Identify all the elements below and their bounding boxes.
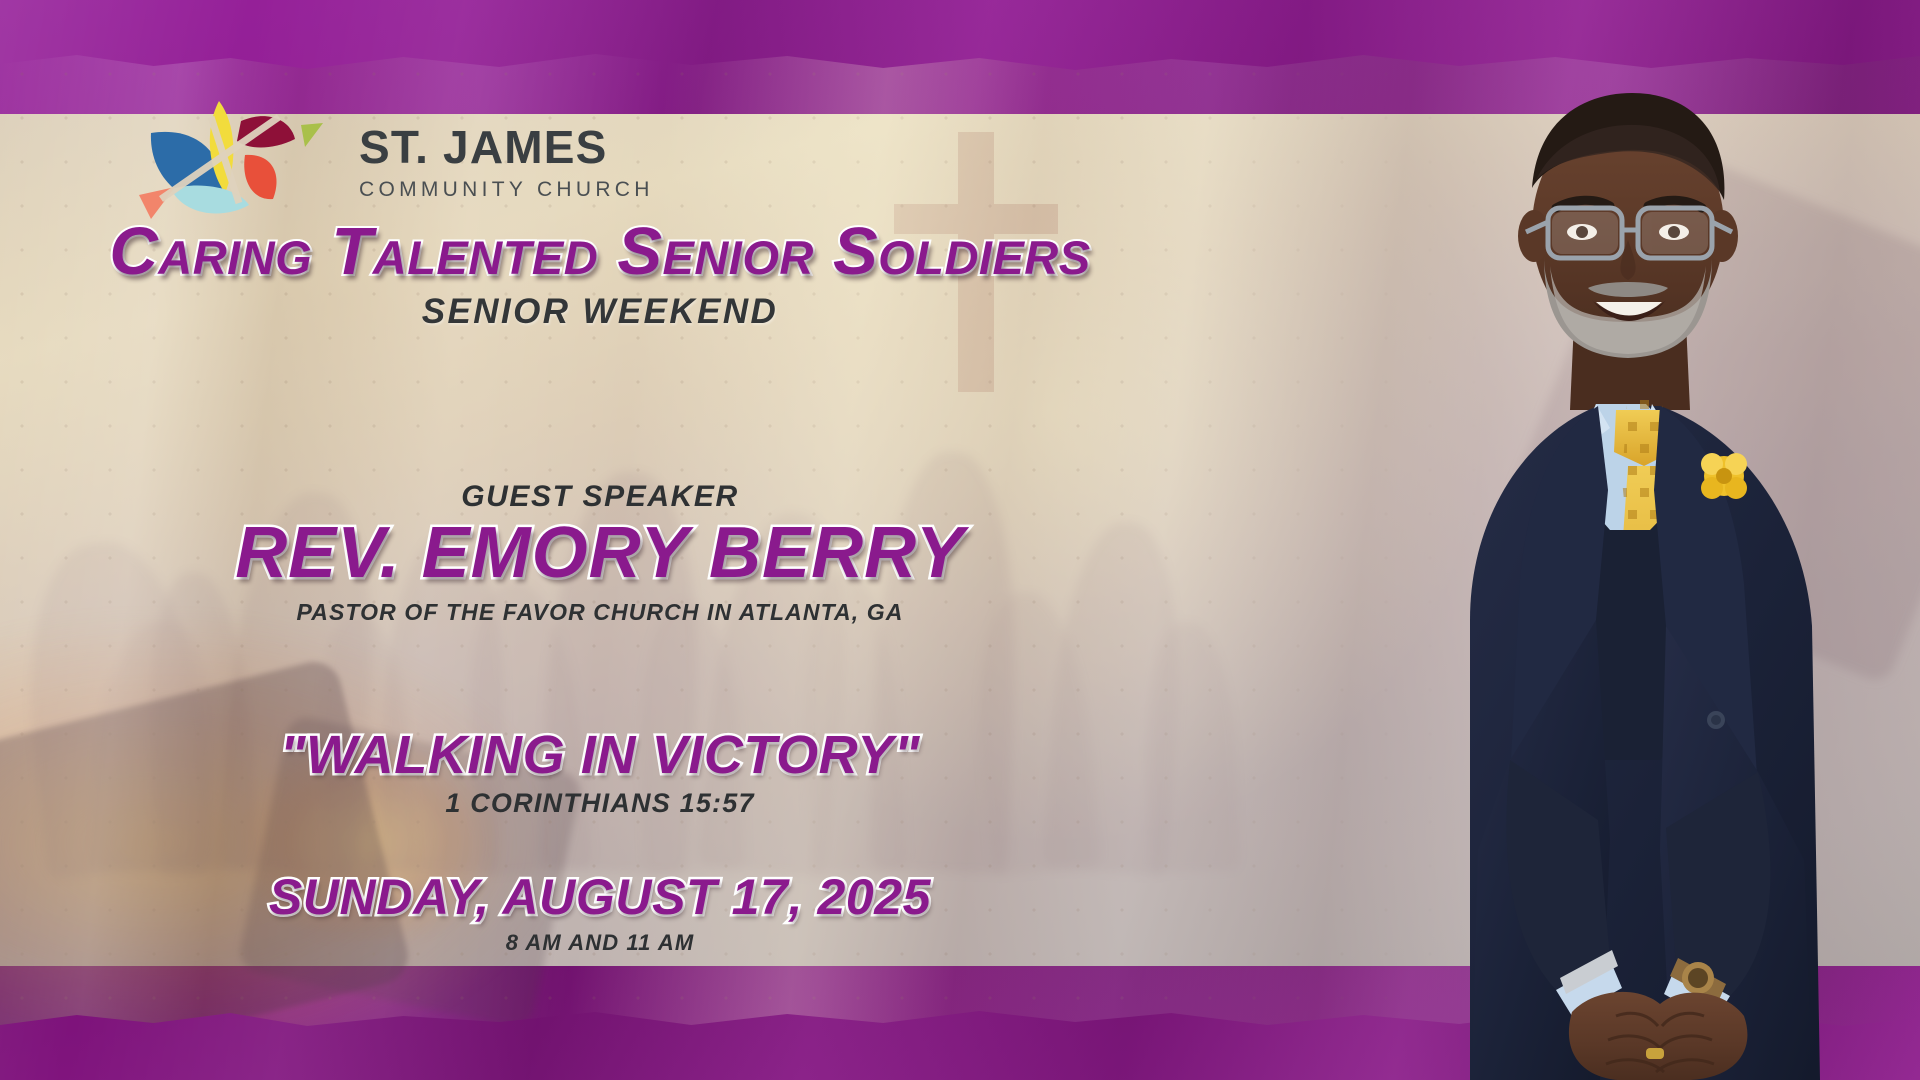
- date-block: SUNDAY, AUGUST 17, 2025 8 AM AND 11 AM: [0, 872, 1200, 954]
- sermon-scripture: 1 CORINTHIANS 15:57: [0, 790, 1200, 817]
- speaker-block: GUEST SPEAKER REV. EMORY BERRY PASTOR OF…: [0, 482, 1200, 624]
- church-logo: ST. JAMES COMMUNITY CHURCH: [133, 95, 654, 223]
- event-times: 8 AM AND 11 AM: [0, 932, 1200, 954]
- logo-name: ST. JAMES: [359, 124, 654, 170]
- event-subtitle: SENIOR WEEKEND: [0, 294, 1200, 329]
- logo-subtitle: COMMUNITY CHURCH: [359, 179, 654, 200]
- sermon-block: "WALKING IN VICTORY" 1 CORINTHIANS 15:57: [0, 728, 1200, 817]
- speaker-photo: [1360, 60, 1920, 1080]
- event-date: SUNDAY, AUGUST 17, 2025: [0, 872, 1200, 922]
- sermon-title: "WALKING IN VICTORY": [0, 728, 1200, 782]
- speaker-role: PASTOR OF THE FAVOR CHURCH IN ATLANTA, G…: [0, 601, 1200, 624]
- lapel-flower-icon: [1701, 453, 1747, 499]
- headline-block: Caring Talented Senior Soldiers SENIOR W…: [0, 218, 1200, 329]
- guest-speaker-label: GUEST SPEAKER: [0, 482, 1200, 512]
- st-james-logo-mark-icon: [133, 95, 343, 223]
- event-title: Caring Talented Senior Soldiers: [0, 218, 1200, 285]
- speaker-name: REV. EMORY BERRY: [0, 516, 1200, 592]
